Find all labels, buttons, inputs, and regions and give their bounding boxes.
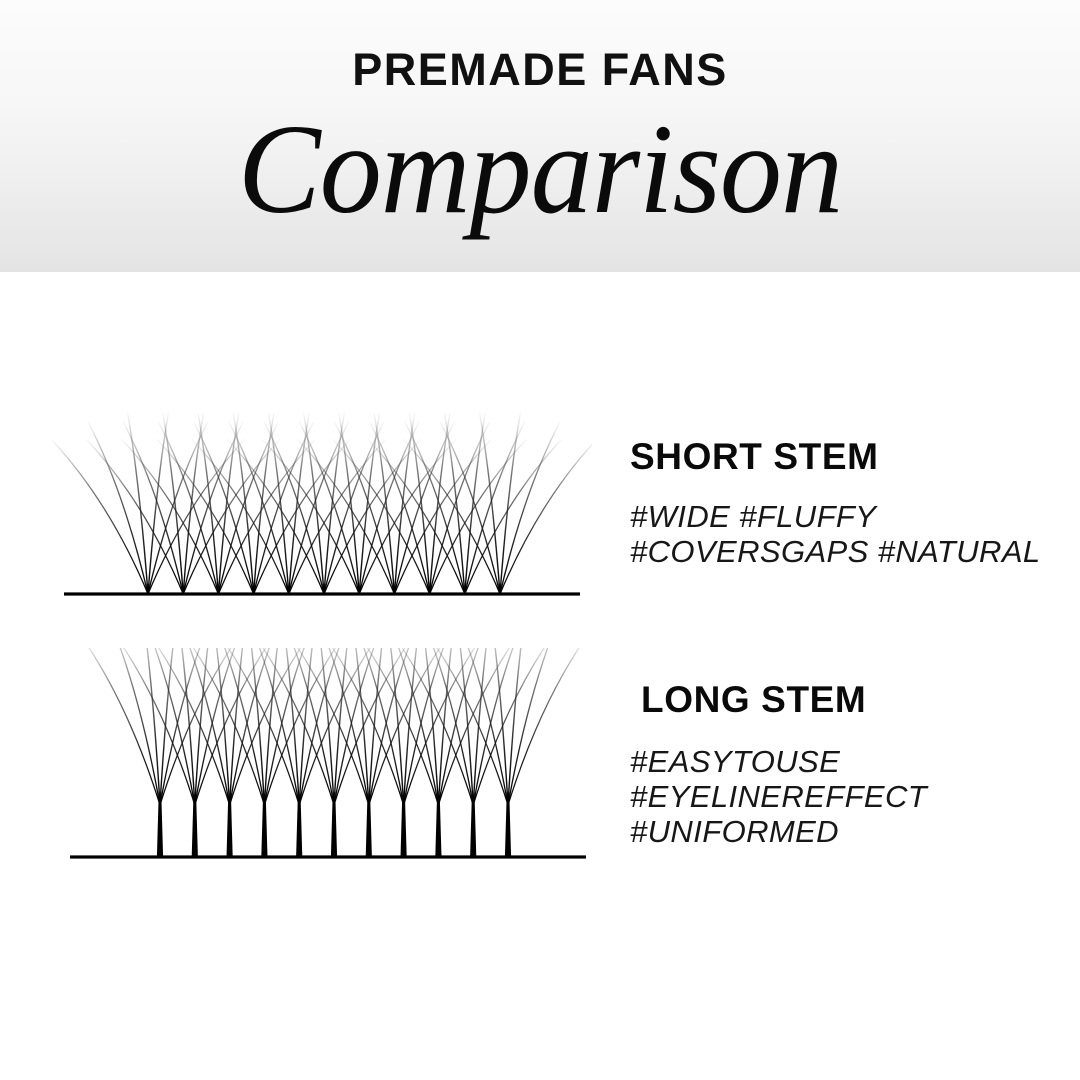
short-stem-heading: SHORT STEM: [630, 438, 1050, 477]
tag-line: #EYELINEREFFECT: [630, 779, 1050, 814]
tag-line: #EASYTOUSE: [630, 744, 1050, 779]
short-stem-lash-fan-diagram: [52, 404, 592, 609]
long-stem-lash-fan-diagram: [58, 648, 598, 870]
long-stem-fan-svg: [58, 648, 598, 870]
tag-line: #COVERSGAPS #NATURAL: [630, 534, 1050, 569]
page-title: Comparison: [16, 96, 1064, 243]
long-stem-text-block: LONG STEM #EASYTOUSE #EYELINEREFFECT #UN…: [630, 681, 1050, 849]
long-stem-heading: LONG STEM: [630, 681, 1050, 720]
page-eyebrow-title: PREMADE FANS: [0, 47, 1080, 92]
short-stem-tag-list: #WIDE #FLUFFY #COVERSGAPS #NATURAL: [630, 499, 1050, 569]
tag-line: #UNIFORMED: [630, 814, 1050, 849]
long-stem-tag-list: #EASYTOUSE #EYELINEREFFECT #UNIFORMED: [630, 744, 1050, 849]
short-stem-text-block: SHORT STEM #WIDE #FLUFFY #COVERSGAPS #NA…: [630, 438, 1050, 569]
tag-line: #WIDE #FLUFFY: [630, 499, 1050, 534]
short-stem-fan-svg: [52, 404, 592, 609]
poster-canvas: PREMADE FANS Comparison SHORT STEM #WIDE…: [0, 0, 1080, 1080]
